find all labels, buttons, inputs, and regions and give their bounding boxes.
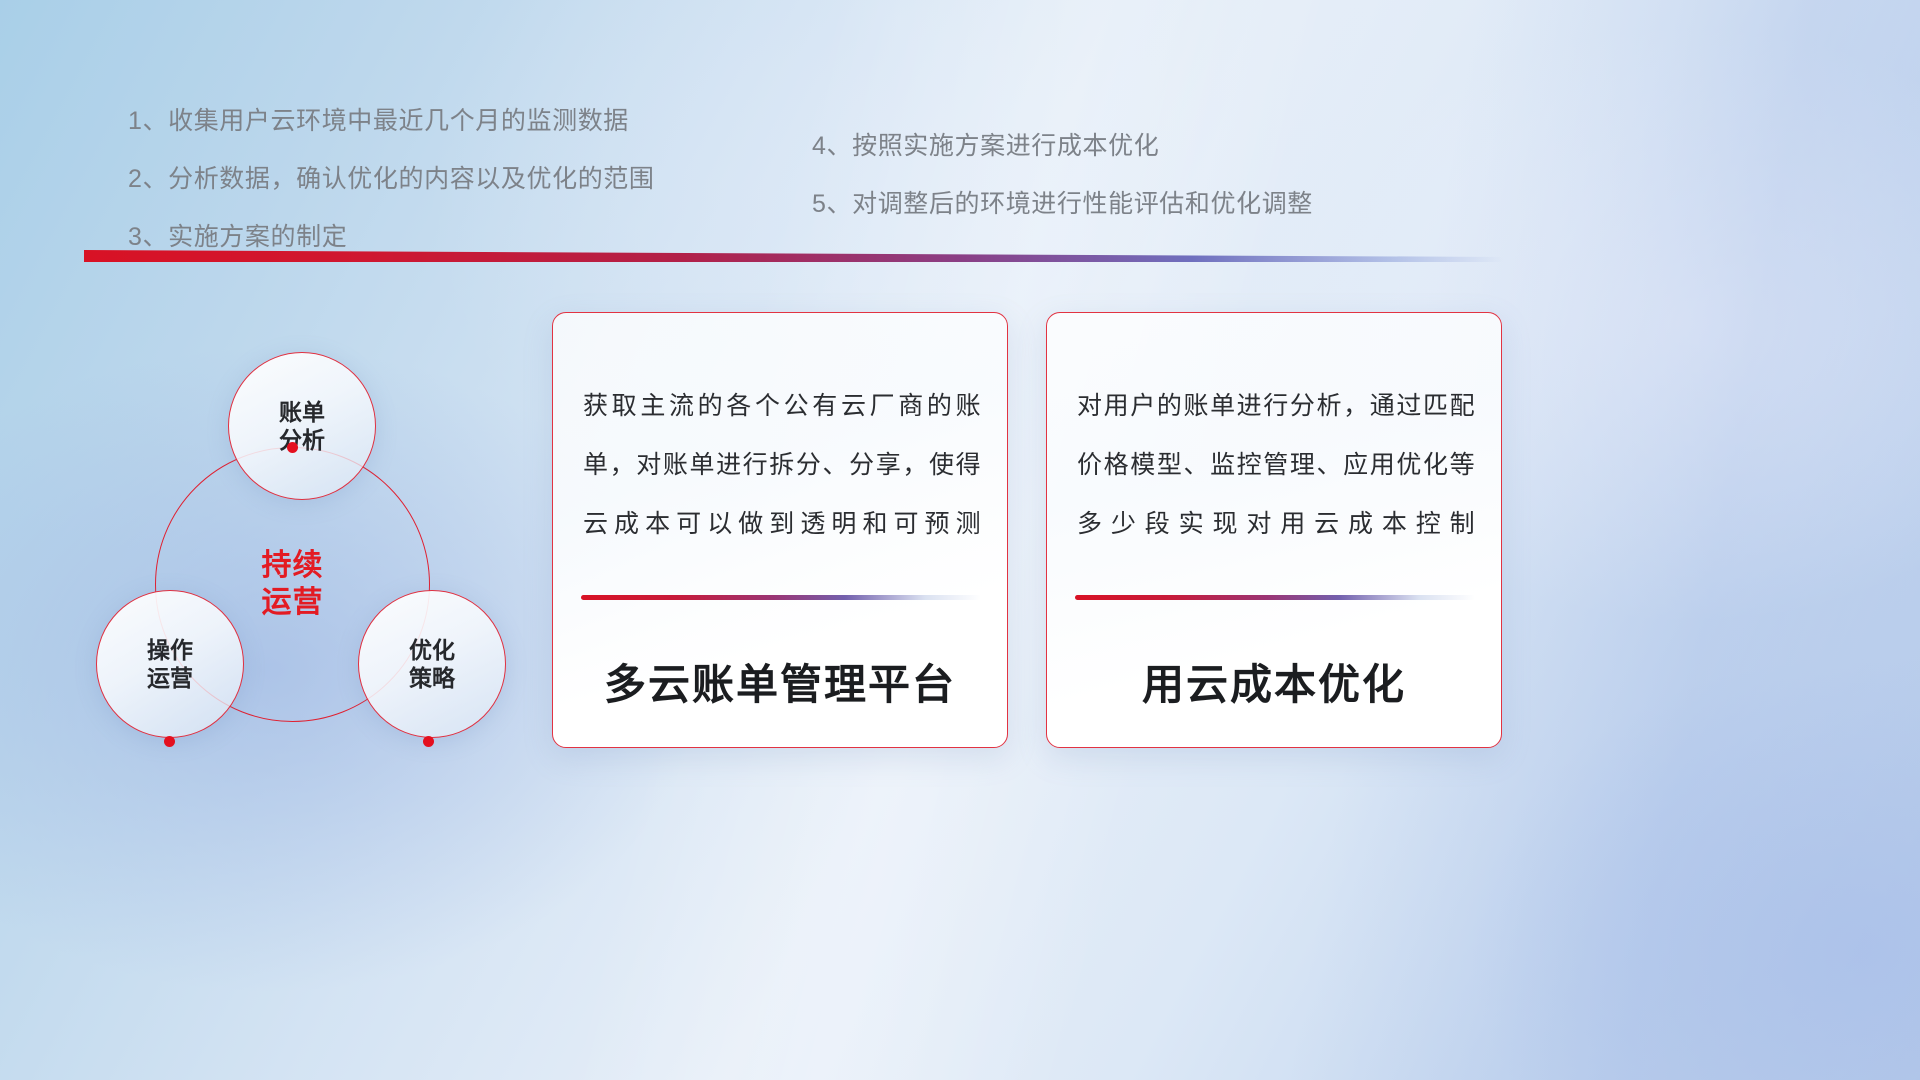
bullet-item-3: 3、实施方案的制定 [128,217,655,253]
bullet-item-4: 4、按照实施方案进行成本优化 [812,126,1313,162]
bullet-list-right: 4、按照实施方案进行成本优化 5、对调整后的环境进行性能评估和优化调整 [812,126,1313,220]
section-divider [84,250,1504,262]
connector-dot-top-icon [287,442,298,453]
bullet-item-2: 2、分析数据，确认优化的内容以及优化的范围 [128,159,655,195]
venn-node-right-line-2: 策略 [409,664,455,692]
card-2-rule [1075,595,1475,600]
venn-node-bill-analysis[interactable]: 账单 分析 [228,352,376,500]
venn-node-operations[interactable]: 操作 运营 [96,590,244,738]
info-card-cost-optimization[interactable]: 对用户的账单进行分析，通过匹配价格模型、监控管理、应用优化等多少段实现对用云成本… [1046,312,1502,748]
card-1-body: 获取主流的各个公有云厂商的账单，对账单进行拆分、分享，使得云成本可以做到透明和可… [583,377,981,553]
divider-bar [84,250,1504,262]
bullet-list-left: 1、收集用户云环境中最近几个月的监测数据 2、分析数据，确认优化的内容以及优化的… [128,101,655,253]
info-card-bill-platform[interactable]: 获取主流的各个公有云厂商的账单，对账单进行拆分、分享，使得云成本可以做到透明和可… [552,312,1008,748]
connector-dot-right-icon [423,736,434,747]
card-2-title: 用云成本优化 [1047,651,1501,712]
card-1-rule [581,595,981,600]
center-label-line-1: 持续 [262,548,324,585]
slide-canvas: 1、收集用户云环境中最近几个月的监测数据 2、分析数据，确认优化的内容以及优化的… [0,0,1920,1080]
center-label-line-2: 运营 [262,585,324,622]
venn-node-top-line-1: 账单 [279,398,325,426]
venn-node-left-line-2: 运营 [147,664,193,692]
venn-node-right-line-1: 优化 [409,636,455,664]
card-1-title: 多云账单管理平台 [553,651,1007,712]
venn-node-optimization-strategy[interactable]: 优化 策略 [358,590,506,738]
bullet-item-1: 1、收集用户云环境中最近几个月的监测数据 [128,101,655,137]
venn-diagram: 持续 运营 账单 分析 操作 运营 优化 策略 [80,290,540,770]
venn-node-top-line-2: 分析 [279,426,325,454]
card-2-body: 对用户的账单进行分析，通过匹配价格模型、监控管理、应用优化等多少段实现对用云成本… [1077,377,1475,553]
connector-dot-left-icon [164,736,175,747]
venn-node-left-line-1: 操作 [147,636,193,664]
bullet-item-5: 5、对调整后的环境进行性能评估和优化调整 [812,184,1313,220]
